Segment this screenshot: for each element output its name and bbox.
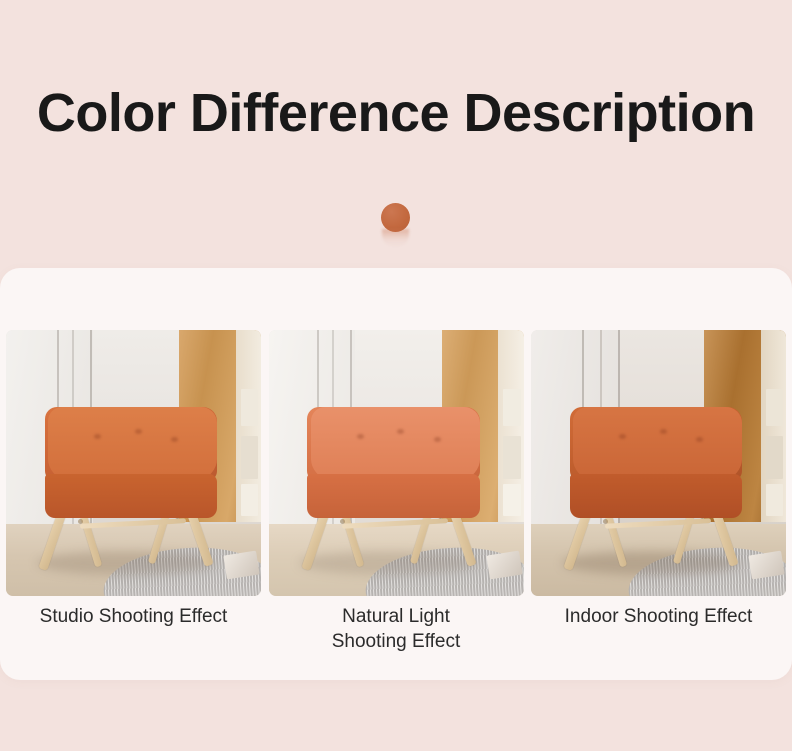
shelf-book-1 [503, 389, 521, 426]
comparison-card: Studio Shooting Effect Natural Light Sho… [0, 268, 792, 680]
shelf-book-3 [766, 484, 784, 516]
stool-cushion-front [570, 474, 743, 518]
swatch-reflection [382, 229, 409, 247]
photo-gallery [6, 330, 786, 596]
photo-captions: Studio Shooting Effect Natural Light Sho… [6, 604, 786, 654]
folding-stool [564, 407, 748, 575]
stool-cushion-front [45, 474, 218, 518]
shelf-book-3 [241, 484, 259, 516]
color-difference-page: Color Difference Description [0, 0, 792, 751]
caption-studio-text: Studio Shooting Effect [40, 606, 228, 627]
caption-indoor: Indoor Shooting Effect [531, 604, 786, 654]
shelf-book-2 [241, 436, 259, 479]
natural-light-scene [269, 330, 524, 596]
page-header: Color Difference Description [0, 0, 792, 268]
stool-stretcher [342, 518, 449, 529]
stool-cushion-front [307, 474, 480, 518]
indoor-scene [531, 330, 786, 596]
caption-studio: Studio Shooting Effect [6, 604, 261, 654]
cushion-tuft-2 [397, 429, 404, 434]
product-photo-indoor[interactable] [531, 330, 786, 596]
cushion-tuft-1 [357, 434, 364, 439]
shelf-book-2 [766, 436, 784, 479]
shelf-book-3 [503, 484, 521, 516]
product-photo-natural-light[interactable] [269, 330, 524, 596]
caption-natural-light-line2: Shooting Effect [332, 631, 461, 652]
shelf-book-1 [766, 389, 784, 426]
studio-scene [6, 330, 261, 596]
color-swatch [381, 203, 411, 249]
stool-stretcher [79, 518, 186, 529]
shelf-book-1 [241, 389, 259, 426]
folding-stool [302, 407, 486, 575]
stool-stretcher [604, 518, 711, 529]
cushion-tuft-2 [135, 429, 142, 434]
shelf-book-2 [503, 436, 521, 479]
folding-stool [39, 407, 223, 575]
caption-indoor-text: Indoor Shooting Effect [565, 606, 753, 627]
cushion-tuft-2 [660, 429, 667, 434]
caption-natural-light-line1: Natural Light [342, 606, 450, 627]
page-title: Color Difference Description [0, 78, 792, 148]
product-photo-studio[interactable] [6, 330, 261, 596]
caption-natural-light: Natural Light Shooting Effect [269, 604, 524, 654]
terracotta-swatch-circle [381, 203, 410, 232]
